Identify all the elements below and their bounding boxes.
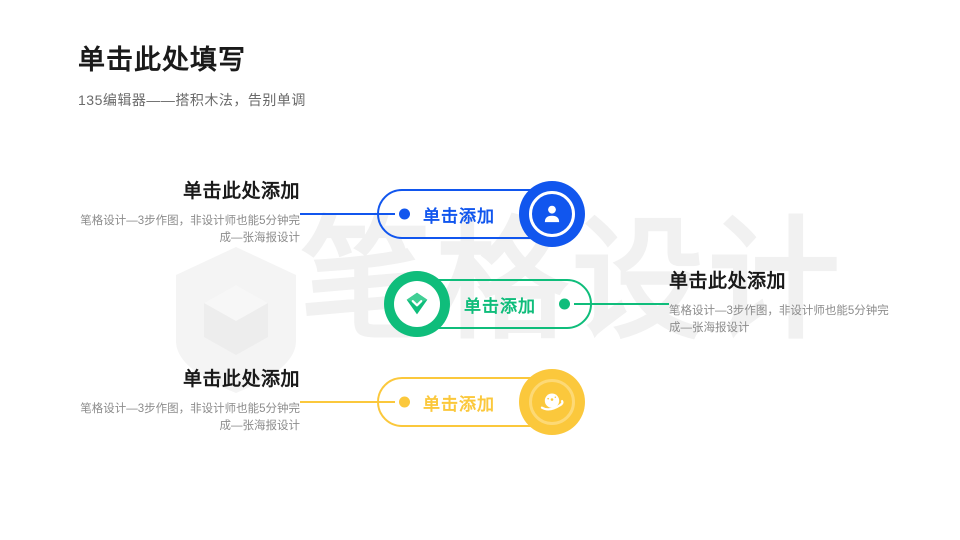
row-blue-textblock: 单击此处添加 笔格设计—3步作图，非设计师也能5分钟完成—张海报设计	[78, 181, 300, 247]
row-green-description: 笔格设计—3步作图，非设计师也能5分钟完成—张海报设计	[669, 303, 891, 338]
row-yellow-textblock: 单击此处添加 笔格设计—3步作图，非设计师也能5分钟完成—张海报设计	[78, 369, 300, 435]
page-subtitle: 135编辑器——搭积木法，告别单调	[78, 90, 306, 110]
row-green-connector-dot	[559, 299, 570, 310]
user-person-icon	[539, 201, 565, 227]
row-yellow-button-label: 单击添加	[423, 390, 495, 415]
row-green: 单击添加 单击此处添加 笔格设计—3步作图，非设计师也能5分钟完成—张海报设计	[390, 266, 891, 342]
header: 单击此处填写 135编辑器——搭积木法，告别单调	[78, 44, 306, 110]
row-blue-button-label: 单击添加	[423, 202, 495, 227]
row-blue-connector-dot	[399, 209, 410, 220]
page-title: 单击此处填写	[78, 44, 306, 78]
row-green-textblock: 单击此处添加 笔格设计—3步作图，非设计师也能5分钟完成—张海报设计	[669, 271, 891, 337]
row-blue-badge[interactable]	[519, 181, 585, 247]
planet-saturn-icon	[538, 388, 566, 416]
row-yellow-badge[interactable]	[519, 369, 585, 435]
row-yellow-connector-dot	[399, 397, 410, 408]
row-yellow-add-button[interactable]: 单击添加	[377, 377, 579, 427]
gem-diamond-chevron-down-icon	[402, 289, 432, 319]
row-blue-description: 笔格设计—3步作图，非设计师也能5分钟完成—张海报设计	[78, 213, 300, 248]
row-yellow-description: 笔格设计—3步作图，非设计师也能5分钟完成—张海报设计	[78, 401, 300, 436]
row-green-title: 单击此处添加	[669, 271, 891, 294]
row-green-button-label: 单击添加	[464, 292, 536, 317]
row-yellow: 单击此处添加 笔格设计—3步作图，非设计师也能5分钟完成—张海报设计 单击添加	[78, 364, 579, 440]
row-green-badge[interactable]	[384, 271, 450, 337]
row-green-add-button[interactable]: 单击添加	[390, 279, 592, 329]
row-yellow-title: 单击此处添加	[78, 369, 300, 392]
row-blue-add-button[interactable]: 单击添加	[377, 189, 579, 239]
row-blue-title: 单击此处添加	[78, 181, 300, 204]
row-blue: 单击此处添加 笔格设计—3步作图，非设计师也能5分钟完成—张海报设计 单击添加	[78, 176, 579, 252]
